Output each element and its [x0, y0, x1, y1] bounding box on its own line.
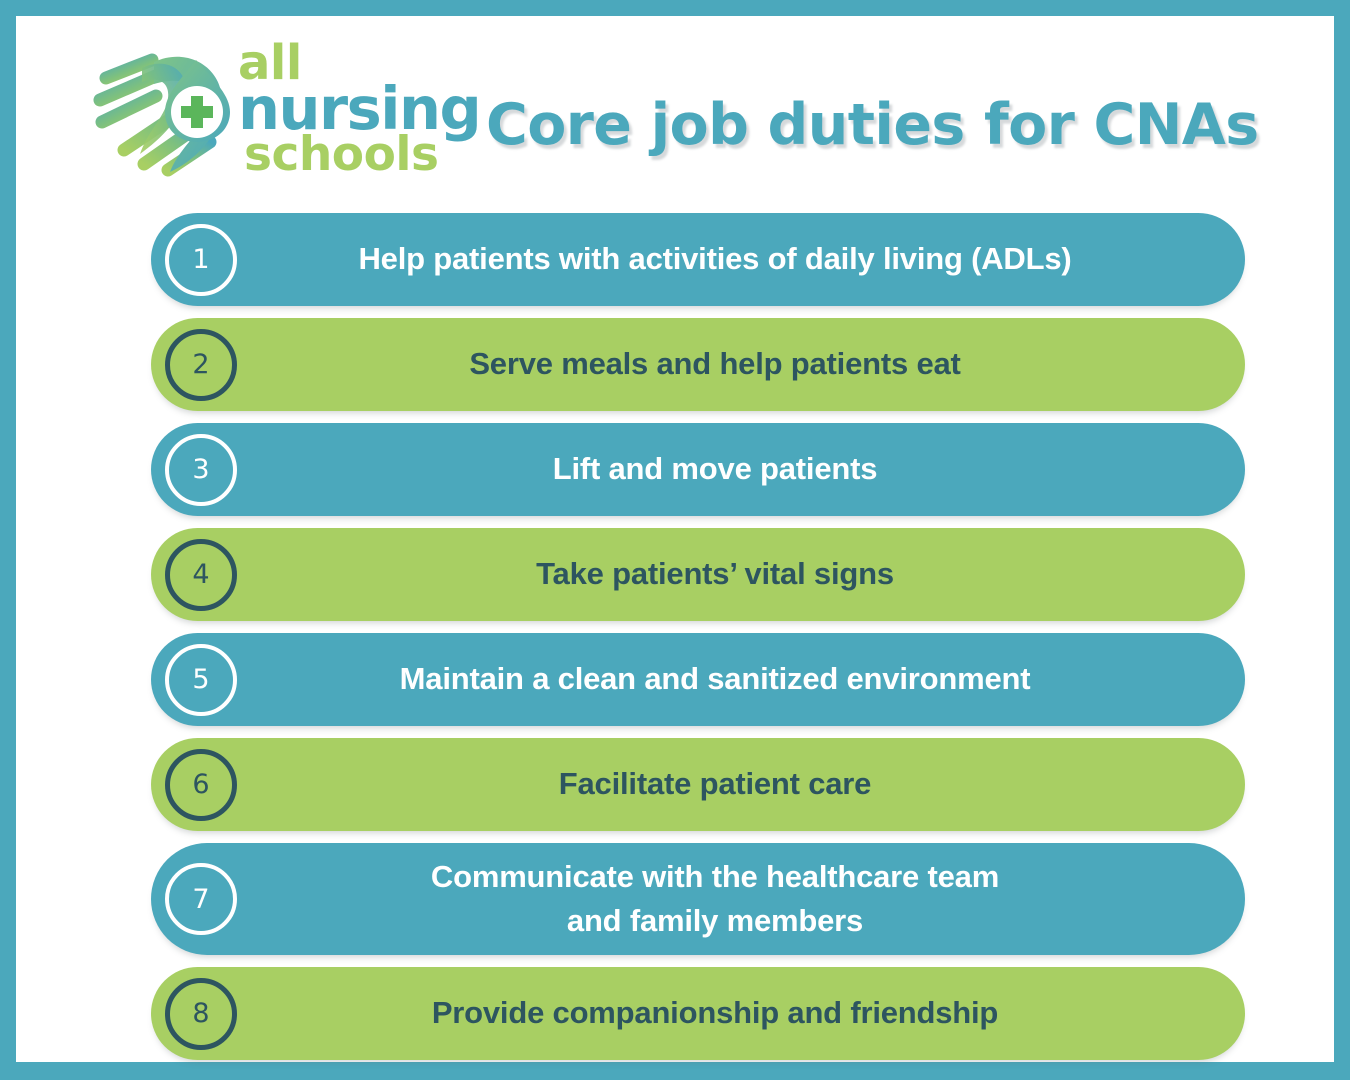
duty-number-badge-1: 1	[165, 224, 237, 296]
page-title: Core job duties for CNAs	[486, 92, 1316, 158]
duty-label-6: Facilitate patient care	[151, 762, 1245, 806]
duty-number-badge-7: 7	[165, 863, 237, 935]
duty-row-6[interactable]: 6 Facilitate patient care	[151, 738, 1245, 831]
duty-label-line-2: and family members	[255, 899, 1175, 943]
duty-label-8: Provide companionship and friendship	[151, 991, 1245, 1035]
duty-label-5: Maintain a clean and sanitized environme…	[151, 657, 1245, 701]
duty-number-badge-4: 4	[165, 539, 237, 611]
duty-row-3[interactable]: 3 Lift and move patients	[151, 423, 1245, 516]
duty-number-badge-2: 2	[165, 329, 237, 401]
duties-list: 1 Help patients with activities of daily…	[151, 213, 1245, 1072]
duty-row-4[interactable]: 4 Take patients’ vital signs	[151, 528, 1245, 621]
duty-label-line-1: Communicate with the healthcare team	[255, 855, 1175, 899]
duty-label-line-1: Facilitate patient care	[255, 762, 1175, 806]
duty-label-2: Serve meals and help patients eat	[151, 342, 1245, 386]
duty-label-line-1: Take patients’ vital signs	[255, 552, 1175, 596]
duty-label-3: Lift and move patients	[151, 447, 1245, 491]
duty-number-badge-3: 3	[165, 434, 237, 506]
hands-heart-medical-cross-icon	[84, 42, 244, 182]
infographic-page: all nursing schools Core job duties for …	[0, 0, 1350, 1080]
duty-label-7: Communicate with the healthcare team and…	[151, 855, 1245, 943]
duty-label-1: Help patients with activities of daily l…	[151, 237, 1245, 281]
header: all nursing schools Core job duties for …	[16, 30, 1334, 190]
duty-row-5[interactable]: 5 Maintain a clean and sanitized environ…	[151, 633, 1245, 726]
duty-label-line-1: Serve meals and help patients eat	[255, 342, 1175, 386]
duty-number-badge-6: 6	[165, 749, 237, 821]
brand-wordmark: all nursing schools	[238, 43, 480, 181]
duty-label-line-1: Lift and move patients	[255, 447, 1175, 491]
duty-label-line-1: Provide companionship and friendship	[255, 991, 1175, 1035]
brand-logo[interactable]: all nursing schools	[84, 42, 480, 182]
duty-row-1[interactable]: 1 Help patients with activities of daily…	[151, 213, 1245, 306]
duty-number-badge-8: 8	[165, 978, 237, 1050]
duty-row-2[interactable]: 2 Serve meals and help patients eat	[151, 318, 1245, 411]
duty-label-4: Take patients’ vital signs	[151, 552, 1245, 596]
duty-number-badge-5: 5	[165, 644, 237, 716]
duty-label-line-1: Help patients with activities of daily l…	[255, 237, 1175, 281]
duty-row-8[interactable]: 8 Provide companionship and friendship	[151, 967, 1245, 1060]
infographic-canvas: all nursing schools Core job duties for …	[16, 16, 1334, 1062]
duty-label-line-1: Maintain a clean and sanitized environme…	[255, 657, 1175, 701]
duty-row-7[interactable]: 7 Communicate with the healthcare team a…	[151, 843, 1245, 955]
